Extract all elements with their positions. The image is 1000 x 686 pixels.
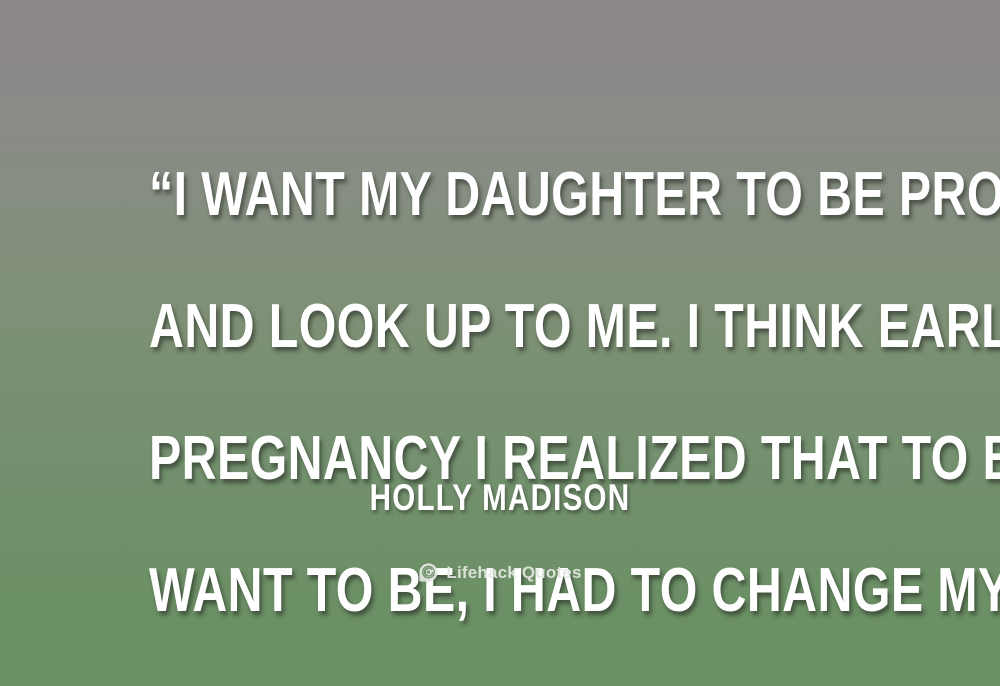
brand-footer: Lifehack Quotes	[0, 562, 1000, 583]
quote-line-2: AND LOOK UP TO ME. I THINK EARLY ON IN M…	[149, 294, 851, 360]
quote-card: “I WANT MY DAUGHTER TO BE PROUD OF ME AN…	[0, 0, 1000, 686]
lifehack-circle-swirl-icon	[418, 562, 439, 583]
quote-line-1: “I WANT MY DAUGHTER TO BE PROUD OF ME	[149, 162, 851, 228]
quote-author: HOLLY MADISON	[100, 478, 900, 518]
brand-name: Lifehack Quotes	[446, 562, 581, 583]
quote-text-block: “I WANT MY DAUGHTER TO BE PROUD OF ME AN…	[149, 96, 851, 686]
